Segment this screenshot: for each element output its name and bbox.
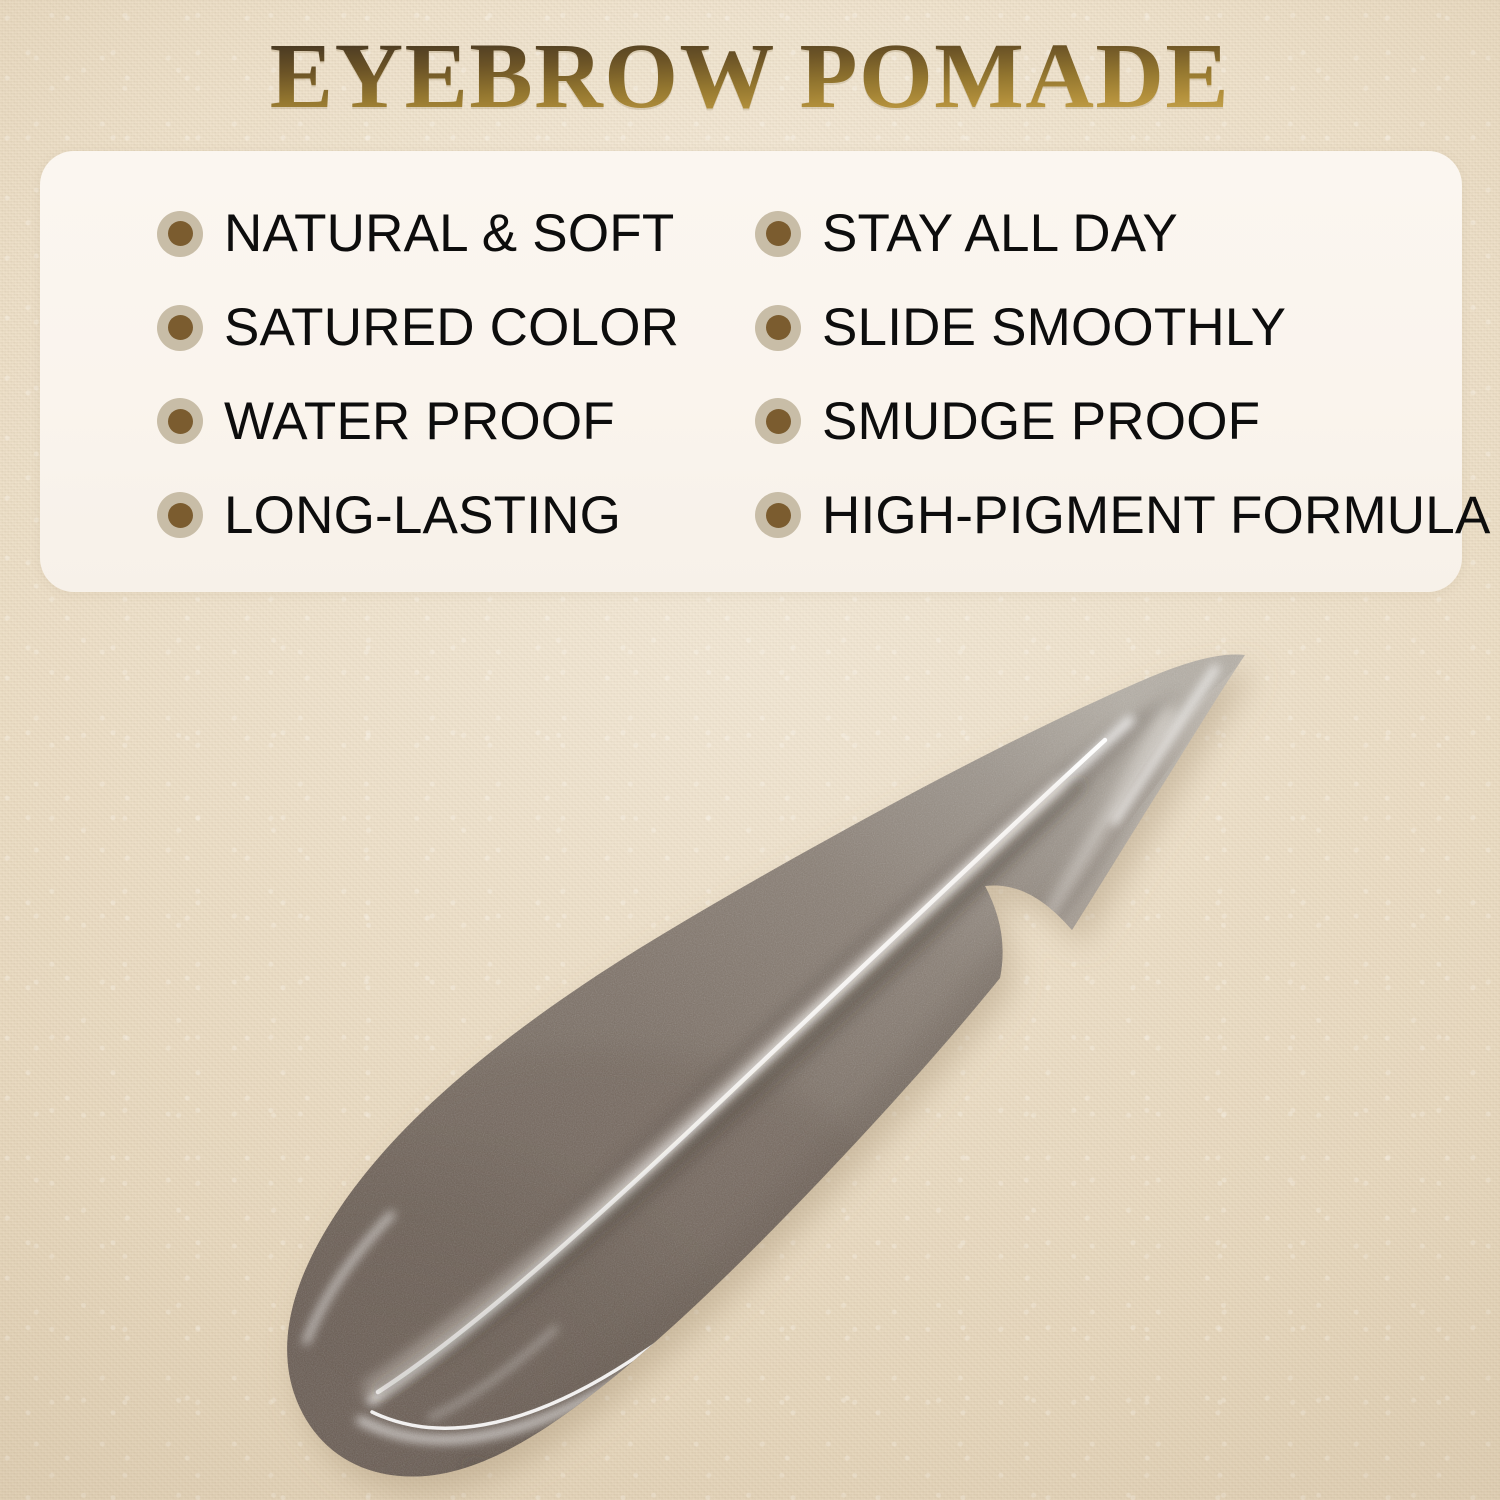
- feature-item-slide-smoothly: SLIDE SMOOTHLY: [755, 301, 1479, 354]
- feature-label: WATER PROOF: [224, 395, 615, 448]
- bullet-dot-icon: [157, 211, 203, 257]
- bullet-dot-icon: [755, 211, 801, 257]
- feature-grid: NATURAL & SOFT STAY ALL DAY SATURED COLO…: [40, 151, 1462, 592]
- feature-label: SLIDE SMOOTHLY: [822, 301, 1286, 354]
- feature-item-satured-color: SATURED COLOR: [157, 301, 755, 354]
- feature-item-high-pigment-formula: HIGH-PIGMENT FORMULA: [755, 489, 1479, 542]
- swatch-body: [0, 600, 1500, 1500]
- feature-label: HIGH-PIGMENT FORMULA: [822, 489, 1491, 542]
- feature-item-smudge-proof: SMUDGE PROOF: [755, 395, 1479, 448]
- product-swatch: [0, 600, 1500, 1500]
- feature-item-long-lasting: LONG-LASTING: [157, 489, 755, 542]
- bullet-dot-icon: [157, 398, 203, 444]
- bullet-dot-icon: [157, 305, 203, 351]
- feature-list-card: NATURAL & SOFT STAY ALL DAY SATURED COLO…: [40, 151, 1462, 592]
- product-feature-banner: EYEBROW POMADE EYEBROW POMADE NATURAL & …: [0, 0, 1500, 1500]
- feature-label: SMUDGE PROOF: [822, 395, 1260, 448]
- bullet-dot-icon: [755, 398, 801, 444]
- pomade-smear-icon: [0, 600, 1500, 1500]
- feature-label: NATURAL & SOFT: [224, 207, 674, 260]
- feature-item-natural-soft: NATURAL & SOFT: [157, 207, 755, 260]
- bullet-dot-icon: [755, 305, 801, 351]
- feature-item-water-proof: WATER PROOF: [157, 395, 755, 448]
- feature-item-stay-all-day: STAY ALL DAY: [755, 207, 1479, 260]
- bullet-dot-icon: [157, 492, 203, 538]
- feature-label: STAY ALL DAY: [822, 207, 1178, 260]
- feature-label: SATURED COLOR: [224, 301, 679, 354]
- page-title: EYEBROW POMADE: [0, 28, 1500, 127]
- bullet-dot-icon: [755, 492, 801, 538]
- feature-label: LONG-LASTING: [224, 489, 621, 542]
